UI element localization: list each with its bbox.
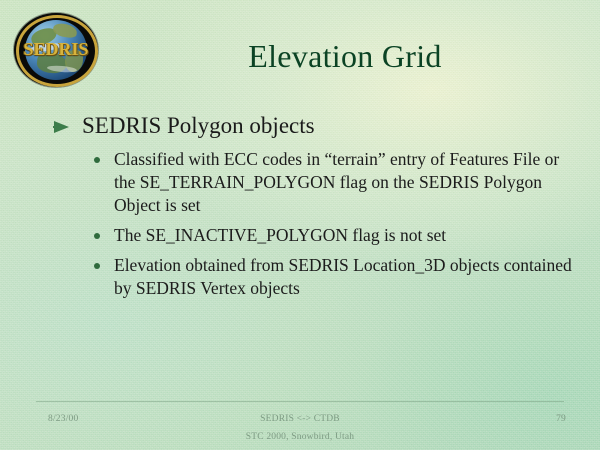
sedris-logo: SEDRIS <box>14 13 98 87</box>
dot-marker-icon <box>94 263 100 269</box>
slide-body: SEDRIS Polygon objects Classified with E… <box>52 112 572 307</box>
bullet-level2: The SE_INACTIVE_POLYGON flag is not set <box>92 224 572 247</box>
footer-venue: STC 2000, Snowbird, Utah <box>0 432 600 442</box>
dot-marker-icon <box>94 233 100 239</box>
dot-marker-icon <box>94 157 100 163</box>
bullet-level2-text: Elevation obtained from SEDRIS Location_… <box>114 255 572 298</box>
footer-divider <box>36 401 564 402</box>
slide-canvas: SEDRIS Elevation Grid SEDRIS Polygon obj… <box>0 0 600 450</box>
page-title: Elevation Grid <box>110 38 580 75</box>
footer-page-number: 79 <box>0 414 566 424</box>
bullet-level1: SEDRIS Polygon objects <box>52 112 572 140</box>
logo-wordmark: SEDRIS <box>14 40 98 58</box>
bullet-level2-text: The SE_INACTIVE_POLYGON flag is not set <box>114 225 446 245</box>
bullet-level1-text: SEDRIS Polygon objects <box>82 113 315 138</box>
arrow-marker-icon <box>54 121 69 133</box>
bullet-level2: Classified with ECC codes in “terrain” e… <box>92 148 572 217</box>
sub-bullet-list: Classified with ECC codes in “terrain” e… <box>52 148 572 300</box>
bullet-level2: Elevation obtained from SEDRIS Location_… <box>92 254 572 300</box>
bullet-level2-text: Classified with ECC codes in “terrain” e… <box>114 149 559 215</box>
